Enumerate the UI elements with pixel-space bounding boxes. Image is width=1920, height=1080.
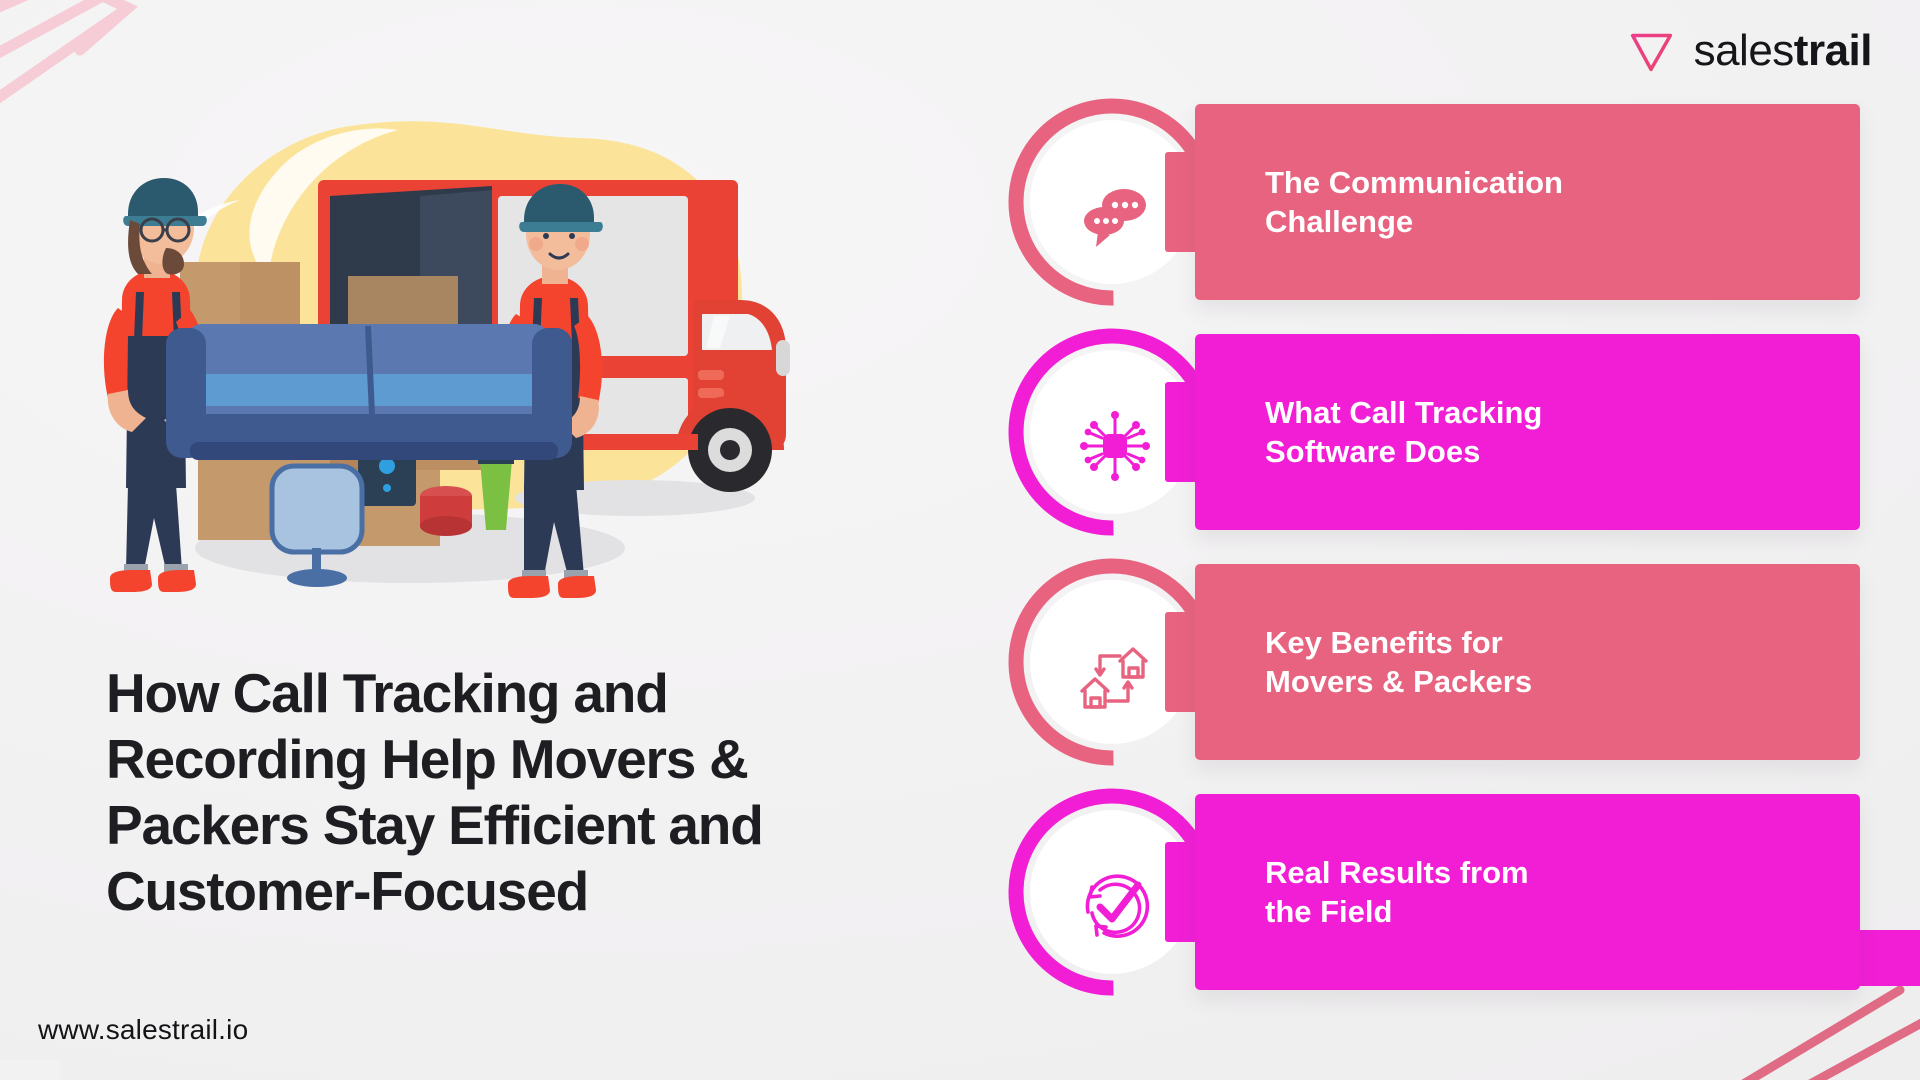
card-3-panel[interactable]: Key Benefits for Movers & Packers — [1195, 564, 1860, 760]
card-4-connector-notch — [1165, 842, 1199, 942]
card-3-title: Key Benefits for Movers & Packers — [1195, 623, 1562, 701]
blue-sofa — [166, 324, 572, 460]
topic-card-2[interactable]: What Call Tracking Software Does — [1000, 334, 1860, 530]
brand-wordmark: salestrail — [1694, 29, 1872, 73]
card-1-panel[interactable]: The Communication Challenge — [1195, 104, 1860, 300]
topic-card-1[interactable]: The Communication Challenge — [1000, 104, 1860, 300]
topic-card-4[interactable]: Real Results from the Field — [1000, 794, 1860, 990]
salestrail-triangle-arrow-icon — [1622, 22, 1680, 80]
card-3-connector-notch — [1165, 612, 1199, 712]
page-title: How Call Tracking and Recording Help Mov… — [106, 660, 866, 924]
card-2-connector-notch — [1165, 382, 1199, 482]
brand-logo[interactable]: salestrail — [1622, 22, 1872, 80]
brand-name-light: sales — [1694, 26, 1794, 75]
footer-website-url[interactable]: www.salestrail.io — [38, 1014, 248, 1046]
house-relocation-arrows-icon — [1055, 612, 1175, 740]
infographic-canvas: salestrail — [0, 0, 1920, 1080]
movers-illustration — [80, 78, 800, 598]
card-4-panel[interactable]: Real Results from the Field — [1195, 794, 1860, 990]
brand-name-bold: trail — [1794, 26, 1872, 75]
chat-bubbles-icon — [1055, 152, 1175, 280]
card-4-title: Real Results from the Field — [1195, 853, 1559, 931]
check-refresh-icon — [1055, 842, 1175, 970]
topic-card-3[interactable]: Key Benefits for Movers & Packers — [1000, 564, 1860, 760]
topic-card-list: The Communication Challenge — [1000, 104, 1860, 988]
microchip-cpu-icon — [1055, 382, 1175, 510]
card-2-panel[interactable]: What Call Tracking Software Does — [1195, 334, 1860, 530]
card-2-title: What Call Tracking Software Does — [1195, 393, 1572, 471]
card-1-connector-notch — [1165, 152, 1199, 252]
card-1-title: The Communication Challenge — [1195, 163, 1593, 241]
